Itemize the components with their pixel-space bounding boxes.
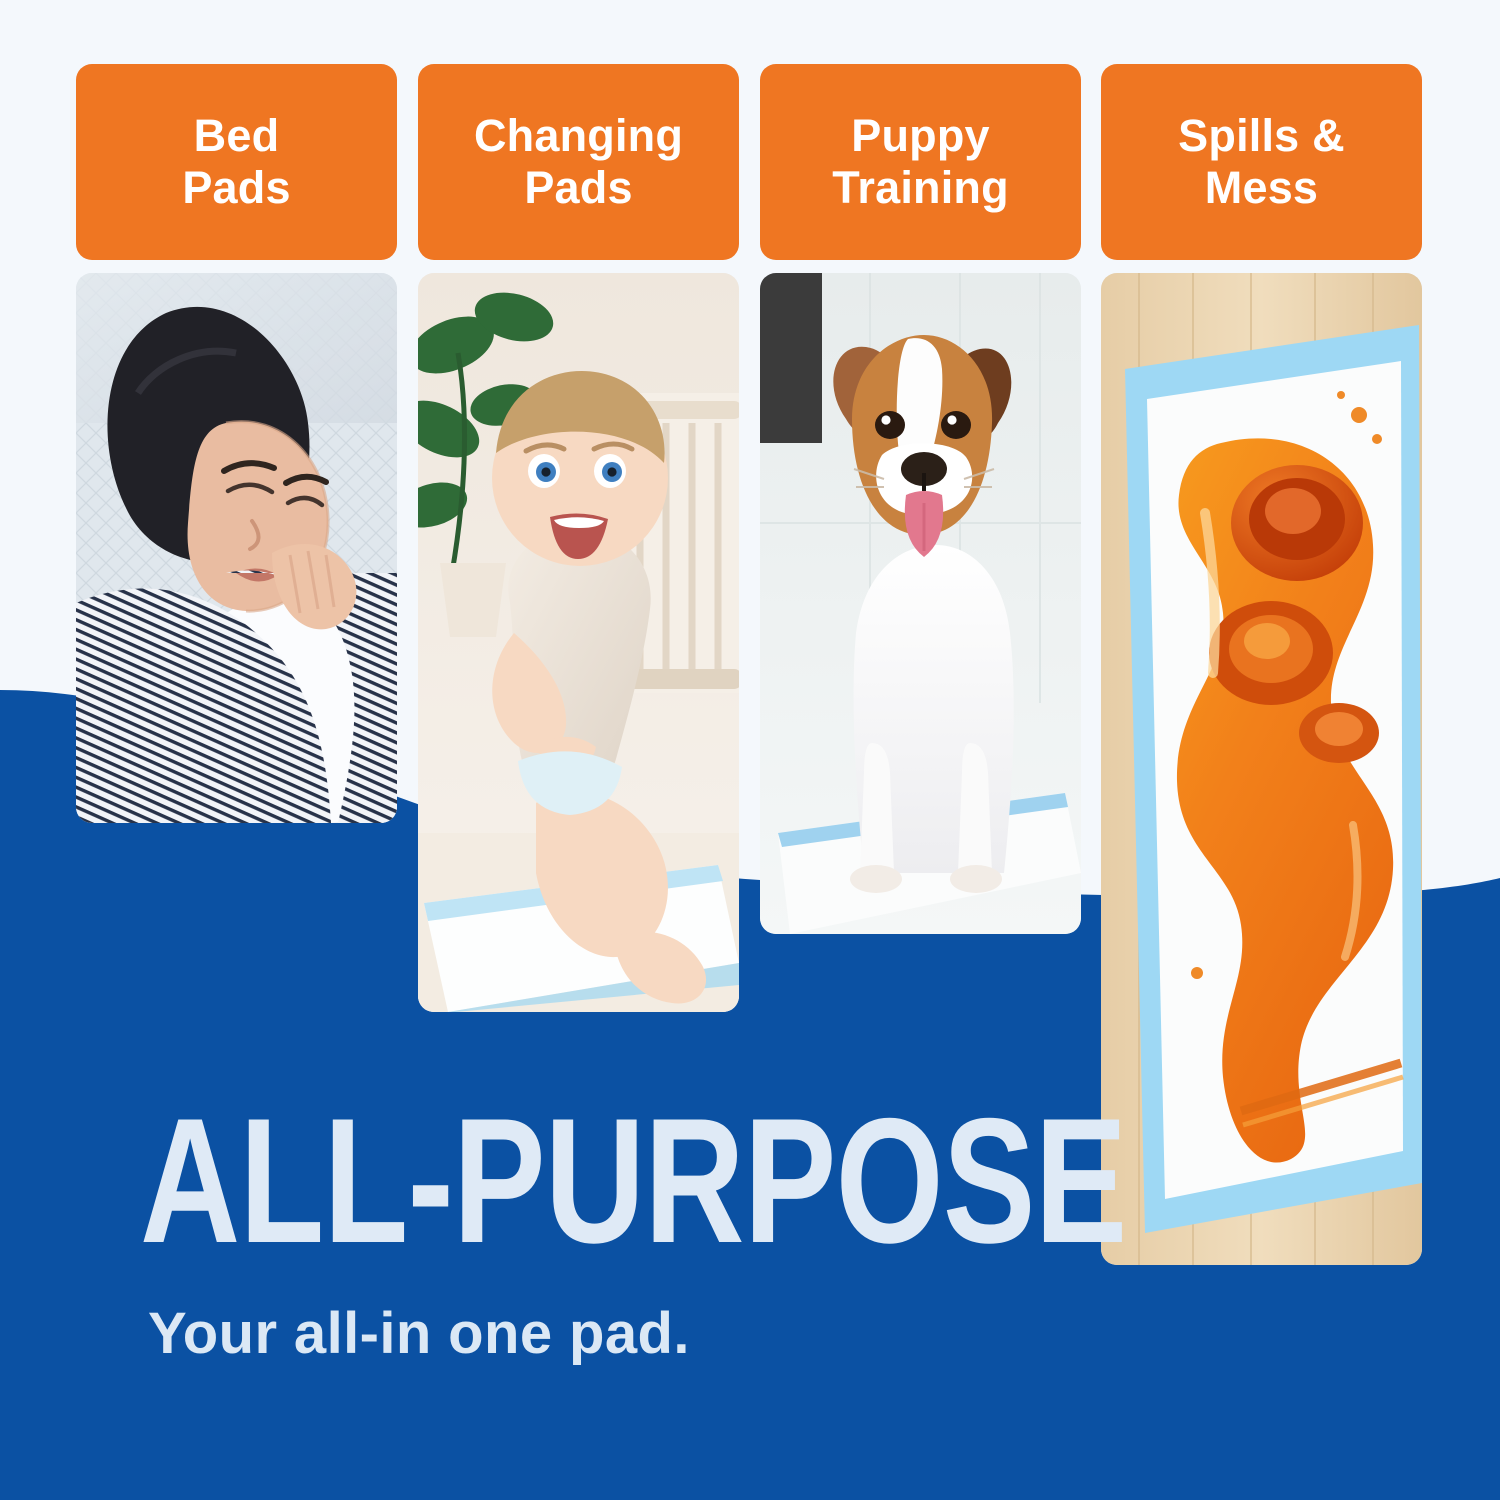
category-card-puppy-training[interactable]: Puppy Training: [760, 64, 1081, 260]
baby-on-changing-pad-photo: [418, 273, 739, 1012]
category-card-label: Changing Pads: [474, 110, 683, 214]
photo-sleeping-woman: [76, 273, 397, 823]
photo-baby-changing-pad: [418, 273, 739, 1012]
category-card-label: Spills & Mess: [1178, 110, 1345, 214]
category-card-label: Puppy Training: [832, 110, 1009, 214]
photo-puppy-training-pad: [760, 273, 1081, 934]
category-card-changing-pads[interactable]: Changing Pads: [418, 64, 739, 260]
hero-text-block: ALL-PURPOSE Your all-in one pad.: [140, 1098, 1405, 1367]
category-card-bed-pads[interactable]: Bed Pads: [76, 64, 397, 260]
page-title: ALL-PURPOSE: [140, 1098, 1126, 1264]
marketing-banner: Bed Pads Changing Pads Puppy Training Sp…: [0, 0, 1500, 1500]
category-card-spills-and-mess[interactable]: Spills & Mess: [1101, 64, 1422, 260]
category-card-label: Bed Pads: [182, 110, 290, 214]
sleeping-woman-photo: [76, 273, 397, 823]
puppy-on-training-pad-photo: [760, 273, 1081, 934]
page-subtitle: Your all-in one pad.: [148, 1300, 1405, 1367]
